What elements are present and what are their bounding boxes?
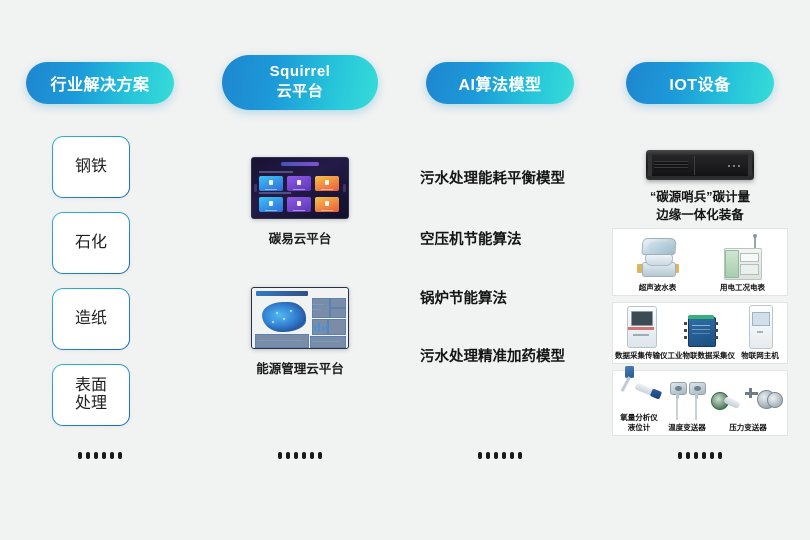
platform-carbon-cloud[interactable]: 碳易云平台: [200, 157, 400, 247]
pressure-transmitter-icon: [711, 386, 785, 420]
iot-device-label-line2: 液位计: [620, 423, 658, 432]
featured-device-caption-line1: “碳源哨兵”碳计量: [650, 188, 750, 206]
iot-device-pressure-transmitter[interactable]: 压力变送器: [711, 386, 785, 432]
header-iot-devices[interactable]: IOT设备: [600, 62, 800, 104]
iot-device-data-acquisition-transmitter[interactable]: 数据采集传输仪: [615, 304, 668, 360]
column-squirrel-cloud: Squirrel 云平台: [200, 0, 400, 540]
oxygen-analyzer-icon: [615, 366, 663, 410]
iot-device-panel-meters: 超声波水表 用电工况电表: [612, 228, 788, 296]
featured-device-rack-server[interactable]: “碳源哨兵”碳计量 边缘一体化装备: [600, 150, 800, 224]
temperature-transmitter-icon: [670, 382, 704, 420]
column-industry-solutions: 行业解决方案 钢铁 石化 造纸 表面 处理: [0, 0, 200, 540]
iot-device-oxygen-analyzer[interactable]: 氧量分析仪 液位计: [615, 366, 663, 432]
solution-architecture-board: 行业解决方案 钢铁 石化 造纸 表面 处理: [0, 0, 810, 540]
ai-model-item-boiler[interactable]: 锅炉节能算法: [420, 287, 507, 308]
header-ai-models[interactable]: AI算法模型: [400, 62, 600, 104]
column-ai-models: AI算法模型 污水处理能耗平衡模型 空压机节能算法 锅炉节能算法 污水处理精准加…: [400, 0, 600, 540]
iot-device-label: 工业物联数据采集仪: [668, 351, 736, 360]
iot-device-temperature-transmitter[interactable]: 温度变送器: [663, 382, 711, 432]
pill-label-industry: 行业解决方案: [26, 62, 174, 104]
industry-card-steel[interactable]: 钢铁: [52, 136, 130, 198]
iot-host-icon: [747, 304, 773, 348]
iot-device-label: 用电工况电表: [720, 283, 765, 292]
pill-label-squirrel-line2: 云平台: [277, 82, 324, 102]
iot-device-label: 数据采集传输仪: [615, 351, 668, 360]
iot-device-ultrasonic-water-meter[interactable]: 超声波水表: [615, 238, 700, 292]
header-industry-solutions[interactable]: 行业解决方案: [0, 62, 200, 104]
platform-energy-cloud[interactable]: 能源管理云平台: [200, 287, 400, 377]
industry-card-paper[interactable]: 造纸: [52, 288, 130, 350]
iot-device-panel-collectors: 数据采集传输仪: [612, 302, 788, 364]
industry-card-petrochemical[interactable]: 石化: [52, 212, 130, 274]
iot-device-label: 超声波水表: [639, 283, 677, 292]
industry-card-steel-text: 钢铁: [75, 158, 107, 176]
platform-carbon-cloud-caption: 碳易云平台: [269, 228, 332, 247]
column-iot-devices: IOT设备 “碳源哨兵”碳计量 边缘一体化装备: [600, 0, 800, 540]
water-meter-icon: [638, 238, 678, 280]
header-squirrel-cloud[interactable]: Squirrel 云平台: [200, 55, 400, 110]
featured-device-caption: “碳源哨兵”碳计量 边缘一体化装备: [650, 188, 750, 224]
data-acquisition-icon: [624, 304, 658, 348]
iot-device-panel-sensors: 氧量分析仪 液位计 温度变送器: [612, 370, 788, 436]
iot-device-electric-meter[interactable]: 用电工况电表: [700, 236, 785, 292]
ai-model-item-wastewater-energy-balance[interactable]: 污水处理能耗平衡模型: [420, 167, 565, 188]
industry-card-paper-text: 造纸: [75, 310, 107, 328]
rack-server-icon: [646, 150, 754, 180]
iot-device-label: 物联网主机: [741, 351, 779, 360]
ellipsis-dots-industry: [0, 452, 200, 459]
ellipsis-dots-iot: [600, 452, 800, 459]
electric-meter-icon: [722, 236, 764, 280]
iot-device-label-line1: 氧量分析仪: [620, 413, 658, 422]
iot-device-label: 压力变送器: [729, 423, 767, 432]
iot-device-label: 温度变送器: [668, 423, 706, 432]
industrial-gateway-icon: [684, 314, 718, 348]
iot-device-iot-host[interactable]: 物联网主机: [735, 304, 785, 360]
industry-card-petrochemical-text: 石化: [75, 234, 107, 252]
industry-card-surface-treatment-text: 表面 处理: [75, 377, 107, 414]
industry-card-surface-treatment[interactable]: 表面 处理: [52, 364, 130, 426]
pill-label-iot: IOT设备: [626, 62, 774, 104]
pill-label-ai: AI算法模型: [426, 62, 574, 104]
carbon-cloud-dashboard-thumbnail: [251, 157, 349, 219]
ellipsis-dots-ai: [400, 452, 600, 459]
iot-device-label: 氧量分析仪 液位计: [620, 413, 658, 432]
platform-energy-cloud-caption: 能源管理云平台: [256, 358, 344, 377]
pill-label-squirrel-line1: Squirrel: [270, 62, 331, 82]
pill-label-squirrel: Squirrel 云平台: [222, 55, 378, 110]
energy-map-dashboard-thumbnail: [251, 287, 349, 349]
iot-device-industrial-gateway[interactable]: 工业物联数据采集仪: [668, 314, 736, 360]
ai-model-item-wastewater-dosing[interactable]: 污水处理精准加药模型: [420, 345, 565, 366]
featured-device-caption-line2: 边缘一体化装备: [650, 206, 750, 224]
ellipsis-dots-squirrel: [200, 452, 400, 459]
ai-model-item-air-compressor[interactable]: 空压机节能算法: [420, 228, 522, 249]
